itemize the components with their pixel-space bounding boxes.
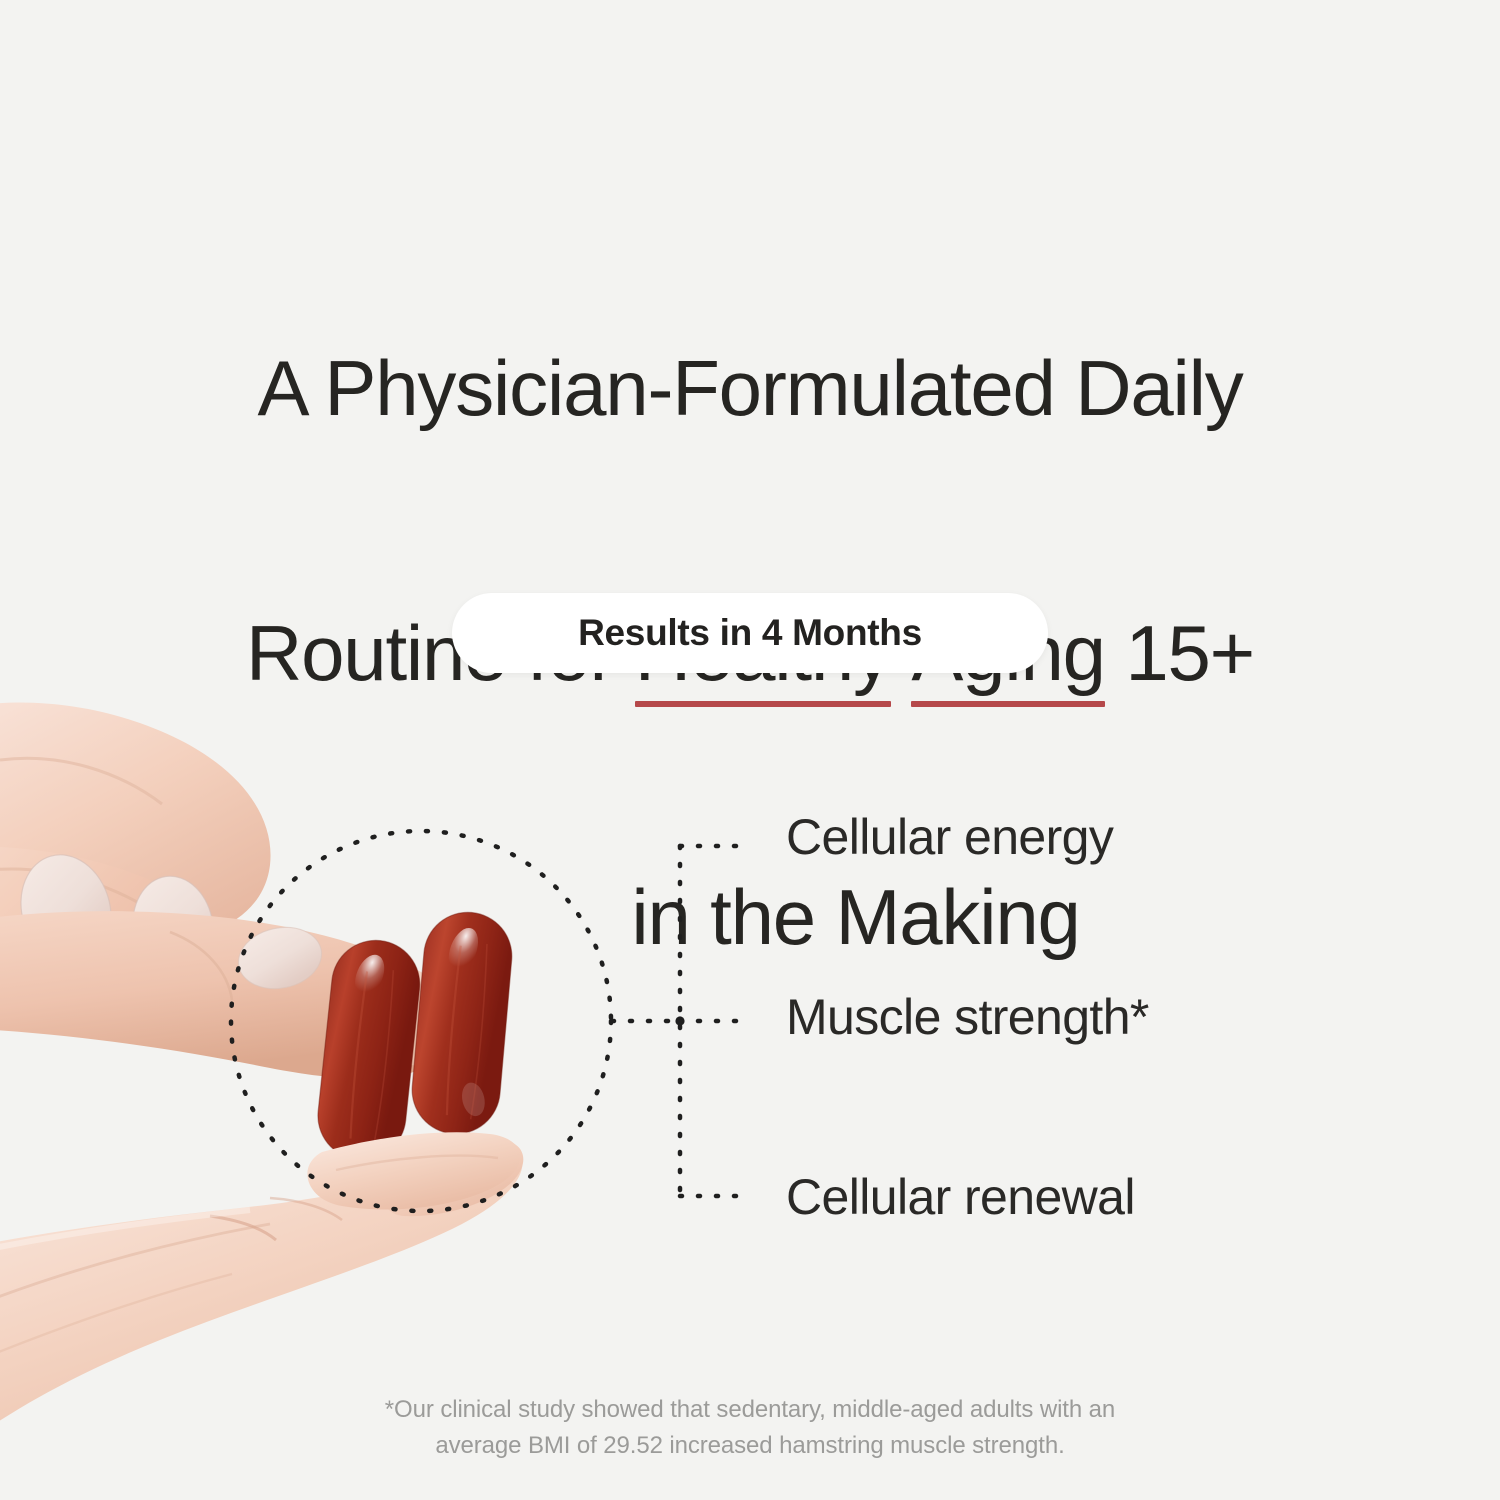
footnote-disclaimer: *Our clinical study showed that sedentar… <box>300 1392 1200 1465</box>
callout-label-muscle-strength: Muscle strength* <box>786 992 1149 1042</box>
hand-holding-capsules-photo <box>0 700 610 1500</box>
headline-line-2-suffix: 15+ <box>1105 609 1254 697</box>
callout-label-cellular-energy: Cellular energy <box>786 812 1113 862</box>
callout-label-cellular-renewal: Cellular renewal <box>786 1172 1135 1222</box>
footnote-line-1: *Our clinical study showed that sedentar… <box>300 1392 1200 1428</box>
footnote-line-2: average BMI of 29.52 increased hamstring… <box>300 1428 1200 1464</box>
results-badge: Results in 4 Months <box>452 593 1048 673</box>
results-badge-label: Results in 4 Months <box>578 612 922 654</box>
marketing-image-canvas: A Physician-Formulated Daily Routine for… <box>0 0 1500 1500</box>
headline-line-1: A Physician-Formulated Daily <box>120 344 1380 432</box>
